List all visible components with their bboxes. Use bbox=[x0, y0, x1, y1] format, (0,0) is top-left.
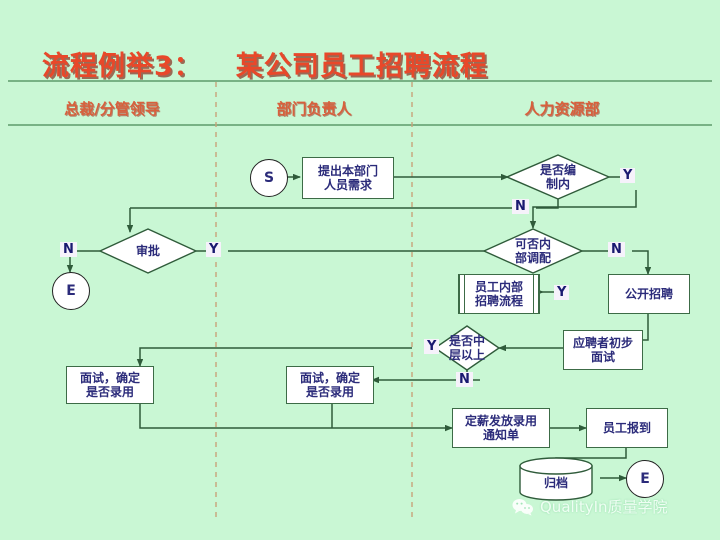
watermark: QualityIn质量学院 bbox=[512, 496, 668, 517]
lane-label-department-head: 部门负责人 bbox=[216, 98, 412, 119]
edge-label-transfer-yes: Y bbox=[554, 285, 569, 300]
node-approval-label: 审批 bbox=[100, 229, 196, 273]
node-employee-onboard[interactable]: 员工报到 bbox=[586, 408, 668, 448]
page-title-main: 流程例举3： bbox=[42, 51, 202, 82]
node-public-recruit[interactable]: 公开招聘 bbox=[608, 274, 690, 314]
node-can-internal-transfer-label: 可否内 部调配 bbox=[484, 229, 582, 273]
node-archive[interactable]: 归档 bbox=[520, 458, 592, 500]
node-interview-decide-left[interactable]: 面试，确定 是否录用 bbox=[66, 366, 154, 404]
edge-label-midlevel-no: N bbox=[456, 372, 473, 387]
node-internal-recruit-process[interactable]: 员工内部 招聘流程 bbox=[458, 274, 540, 314]
node-start[interactable]: S bbox=[250, 159, 288, 197]
edge-label-approval-yes: Y bbox=[206, 242, 221, 257]
node-end-right[interactable]: E bbox=[626, 460, 664, 498]
edge-label-headcount-no: N bbox=[512, 199, 529, 214]
page-title: 流程例举3：某公司员工招聘流程 bbox=[42, 44, 488, 83]
lane-label-executive: 总裁/分管领导 bbox=[8, 98, 216, 119]
flowchart-canvas: 流程例举3：某公司员工招聘流程 总裁/分管领导 部门负责人 人力资源部 S 提出… bbox=[0, 0, 720, 540]
node-is-mid-level[interactable]: 是否中 层以上 bbox=[435, 326, 499, 370]
edge-label-transfer-no: N bbox=[608, 242, 625, 257]
watermark-text: QualityIn质量学院 bbox=[540, 496, 668, 517]
page-title-sub: 某公司员工招聘流程 bbox=[236, 51, 488, 82]
node-approval[interactable]: 审批 bbox=[100, 229, 196, 273]
node-is-mid-level-label: 是否中 层以上 bbox=[435, 326, 499, 370]
node-can-internal-transfer[interactable]: 可否内 部调配 bbox=[484, 229, 582, 273]
node-interview-decide-mid[interactable]: 面试，确定 是否录用 bbox=[286, 366, 374, 404]
edge-label-midlevel-yes: Y bbox=[424, 339, 439, 354]
edge-label-headcount-yes: Y bbox=[620, 168, 635, 183]
wechat-icon bbox=[512, 498, 534, 516]
edge-label-approval-no: N bbox=[60, 242, 77, 257]
node-request-headcount[interactable]: 提出本部门 人员需求 bbox=[302, 157, 394, 199]
lane-label-hr: 人力资源部 bbox=[412, 98, 712, 119]
node-archive-label: 归档 bbox=[520, 458, 592, 500]
node-end-left[interactable]: E bbox=[52, 272, 90, 310]
node-first-interview[interactable]: 应聘者初步 面试 bbox=[563, 330, 643, 370]
node-is-in-headcount[interactable]: 是否编 制内 bbox=[507, 155, 609, 199]
node-is-in-headcount-label: 是否编 制内 bbox=[507, 155, 609, 199]
node-offer-letter[interactable]: 定薪发放录用 通知单 bbox=[452, 408, 550, 448]
